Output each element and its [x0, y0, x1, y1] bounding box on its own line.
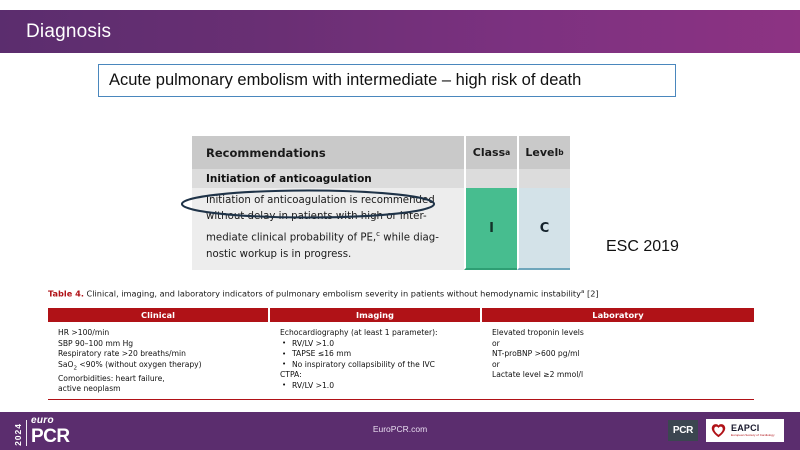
- slide-header-banner: Diagnosis: [0, 10, 800, 53]
- esc-class-cell: I: [464, 188, 517, 270]
- table4-caption: Table 4. Clinical, imaging, and laborato…: [48, 287, 754, 300]
- table4-bullet-item: TAPSE ≤16 mm: [280, 349, 476, 360]
- table4-caption-text: Clinical, imaging, and laboratory indica…: [84, 289, 581, 299]
- eapci-logo: EAPCI European Society of Cardiology: [706, 419, 784, 442]
- esc-rec-line-3: mediate clinical probability of PE,c whi…: [206, 226, 454, 247]
- esc-rec-line-3-tail: while diag-: [380, 232, 439, 243]
- esc-section-class-spacer: [464, 169, 517, 188]
- table4-caption-ref: [2]: [584, 289, 598, 299]
- esc-table-body-row: Initiation of anticoagulation is recomme…: [192, 188, 570, 270]
- esc-header-level: Levelb: [517, 136, 570, 169]
- esc-rec-line-1: Initiation of anticoagulation is recomme…: [206, 193, 454, 209]
- table4-cell-clinical: HR >100/minSBP 90–100 mm HgRespiratory r…: [48, 322, 270, 399]
- table4-header-imaging: Imaging: [270, 308, 482, 322]
- table4-text-line: or: [492, 360, 748, 371]
- table4-header-clinical: Clinical: [48, 308, 270, 322]
- table4-cell-imaging: Echocardiography (at least 1 parameter):…: [270, 322, 482, 399]
- table4-text-line: Echocardiography (at least 1 parameter):: [280, 328, 476, 339]
- esc-header-class-sup: a: [505, 148, 510, 157]
- table4-bullet-item: RV/LV >1.0: [280, 381, 476, 392]
- esc-section-level-spacer: [517, 169, 570, 188]
- esc-recommendation-text: Initiation of anticoagulation is recomme…: [192, 188, 464, 270]
- esc-header-class: Classa: [464, 136, 517, 169]
- table4-text-line: SaO2 <90% (without oxygen therapy): [58, 360, 264, 374]
- table4-text-line: or: [492, 339, 748, 350]
- esc-rec-line-4: nostic workup is in progress.: [206, 247, 454, 263]
- source-citation-label: ESC 2019: [606, 238, 679, 256]
- esc-header-class-label: Class: [473, 146, 505, 159]
- esc-header-level-sup: b: [558, 148, 563, 157]
- table4-text-line: SBP 90–100 mm Hg: [58, 339, 264, 350]
- heart-icon: [710, 422, 727, 439]
- table4-header-laboratory: Laboratory: [482, 308, 754, 322]
- table4-text-line: NT-proBNP >600 pg/ml: [492, 349, 748, 360]
- table4: Clinical Imaging Laboratory HR >100/minS…: [48, 308, 754, 400]
- eapci-name: EAPCI: [731, 424, 775, 433]
- esc-table-header-row: Recommendations Classa Levelb: [192, 136, 570, 169]
- esc-rec-line-2: without delay in patients with high or i…: [206, 209, 454, 225]
- table4-bullet-item: No inspiratory collapsibility of the IVC: [280, 360, 476, 371]
- table4-bullet-item: RV/LV >1.0: [280, 339, 476, 350]
- headline-text: Acute pulmonary embolism with intermedia…: [109, 71, 581, 90]
- esc-level-cell: C: [517, 188, 570, 270]
- table4-caption-label: Table 4.: [48, 289, 84, 299]
- esc-header-level-label: Level: [525, 146, 558, 159]
- table4-body-row: HR >100/minSBP 90–100 mm HgRespiratory r…: [48, 322, 754, 399]
- eapci-subtitle: European Society of Cardiology: [731, 434, 775, 437]
- esc-header-recommendations: Recommendations: [192, 136, 464, 169]
- pcr-logo-badge: PCR: [668, 420, 698, 441]
- page-title: Diagnosis: [26, 21, 111, 43]
- esc-section-title: Initiation of anticoagulation: [192, 169, 464, 188]
- table4-text-line: Respiratory rate >20 breaths/min: [58, 349, 264, 360]
- table4-header-row: Clinical Imaging Laboratory: [48, 308, 754, 322]
- esc-rec-line-3-main: mediate clinical probability of PE,: [206, 232, 376, 243]
- headline-box: Acute pulmonary embolism with intermedia…: [98, 64, 676, 97]
- table4-text-line: Lactate level ≥2 mmol/l: [492, 370, 748, 381]
- eapci-text-block: EAPCI European Society of Cardiology: [731, 424, 775, 438]
- table4-text-line: Elevated troponin levels: [492, 328, 748, 339]
- table4-text-line: CTPA:: [280, 370, 476, 381]
- esc-header-recommendations-label: Recommendations: [206, 146, 326, 160]
- esc-table-section-row: Initiation of anticoagulation: [192, 169, 570, 188]
- table4-cell-laboratory: Elevated troponin levelsorNT-proBNP >600…: [482, 322, 754, 399]
- table4-text-line: active neoplasm: [58, 384, 264, 395]
- esc-recommendation-table: Recommendations Classa Levelb Initiation…: [192, 136, 570, 270]
- table4-text-line: Comorbidities: heart failure,: [58, 374, 264, 385]
- table4-text-line: HR >100/min: [58, 328, 264, 339]
